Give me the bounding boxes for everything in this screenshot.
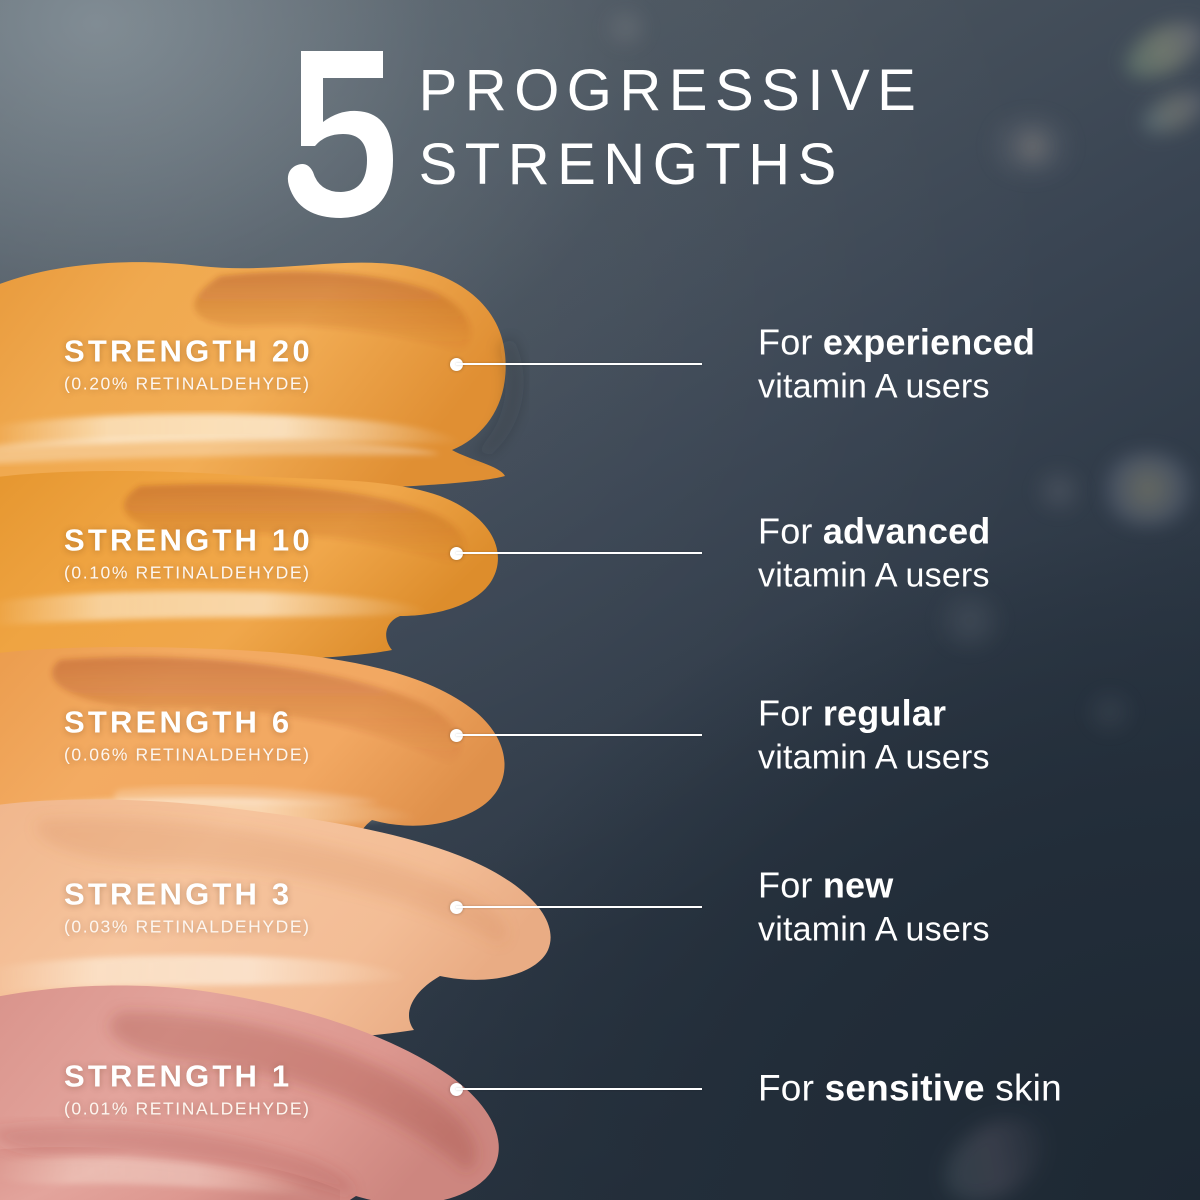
strength-label-10: STRENGTH 10 (0.10% RETINALDEHYDE)	[64, 524, 313, 581]
connector-line-3	[450, 900, 702, 914]
desc-emphasis: sensitive	[825, 1068, 985, 1109]
description-20: For experienced vitamin A users	[758, 321, 1035, 408]
strength-title: STRENGTH 3	[64, 878, 311, 911]
desc-lead: For	[758, 1068, 825, 1109]
description-line-2: vitamin A users	[758, 366, 1035, 407]
strength-title: STRENGTH 20	[64, 335, 313, 368]
strength-concentration: (0.01% RETINALDEHYDE)	[64, 1099, 311, 1117]
desc-lead: For	[758, 511, 823, 552]
strength-concentration: (0.03% RETINALDEHYDE)	[64, 917, 311, 935]
strength-title: STRENGTH 1	[64, 1060, 311, 1093]
description-line-1: For regular	[758, 692, 990, 736]
desc-lead: For	[758, 865, 823, 906]
strength-label-6: STRENGTH 6 (0.06% RETINALDEHYDE)	[64, 706, 311, 763]
desc-emphasis: experienced	[823, 322, 1035, 363]
bokeh-flare-7	[600, 8, 652, 48]
connector-line-20	[450, 357, 702, 371]
description-3: For new vitamin A users	[758, 864, 990, 951]
description-line-1: For advanced	[758, 510, 991, 554]
connector-stroke	[456, 552, 702, 555]
bokeh-flare-5	[1030, 468, 1088, 514]
description-line-2: vitamin A users	[758, 909, 990, 950]
bokeh-flare-4	[1100, 452, 1196, 526]
headline-words: PROGRESSIVE STRENGTHS	[419, 44, 924, 202]
desc-lead: For	[758, 322, 823, 363]
strength-concentration: (0.20% RETINALDEHYDE)	[64, 374, 313, 392]
desc-emphasis: regular	[823, 693, 946, 734]
strength-title: STRENGTH 6	[64, 706, 311, 739]
connector-stroke	[456, 906, 702, 909]
headline-number-five	[277, 48, 397, 220]
strength-label-20: STRENGTH 20 (0.20% RETINALDEHYDE)	[64, 335, 313, 392]
description-line-1: For sensitive skin	[758, 1067, 1062, 1112]
description-6: For regular vitamin A users	[758, 692, 990, 779]
bokeh-flare-10	[1080, 690, 1140, 734]
description-line-2: vitamin A users	[758, 737, 990, 778]
connector-stroke	[456, 363, 702, 366]
bokeh-flare-6	[930, 590, 1010, 652]
strength-concentration: (0.06% RETINALDEHYDE)	[64, 745, 311, 763]
description-line-2: vitamin A users	[758, 555, 991, 596]
promo-graphic: PROGRESSIVE STRENGTHS	[0, 0, 1200, 1200]
strength-label-3: STRENGTH 3 (0.03% RETINALDEHYDE)	[64, 878, 311, 935]
strength-concentration: (0.10% RETINALDEHYDE)	[64, 563, 313, 581]
desc-emphasis: new	[823, 865, 894, 906]
connector-line-1	[450, 1082, 702, 1096]
description-10: For advanced vitamin A users	[758, 510, 991, 597]
connector-stroke	[456, 734, 702, 737]
bokeh-flare-9	[930, 1101, 1060, 1200]
strength-title: STRENGTH 10	[64, 524, 313, 557]
strength-label-1: STRENGTH 1 (0.01% RETINALDEHYDE)	[64, 1060, 311, 1117]
connector-stroke	[456, 1088, 702, 1091]
description-line-1: For experienced	[758, 321, 1035, 365]
desc-emphasis: advanced	[823, 511, 991, 552]
desc-lead: For	[758, 693, 823, 734]
connector-line-6	[450, 728, 702, 742]
connector-line-10	[450, 546, 702, 560]
desc-tail: skin	[985, 1068, 1062, 1109]
description-1: For sensitive skin	[758, 1067, 1062, 1112]
headline: PROGRESSIVE STRENGTHS	[0, 44, 1200, 220]
description-line-1: For new	[758, 864, 990, 908]
